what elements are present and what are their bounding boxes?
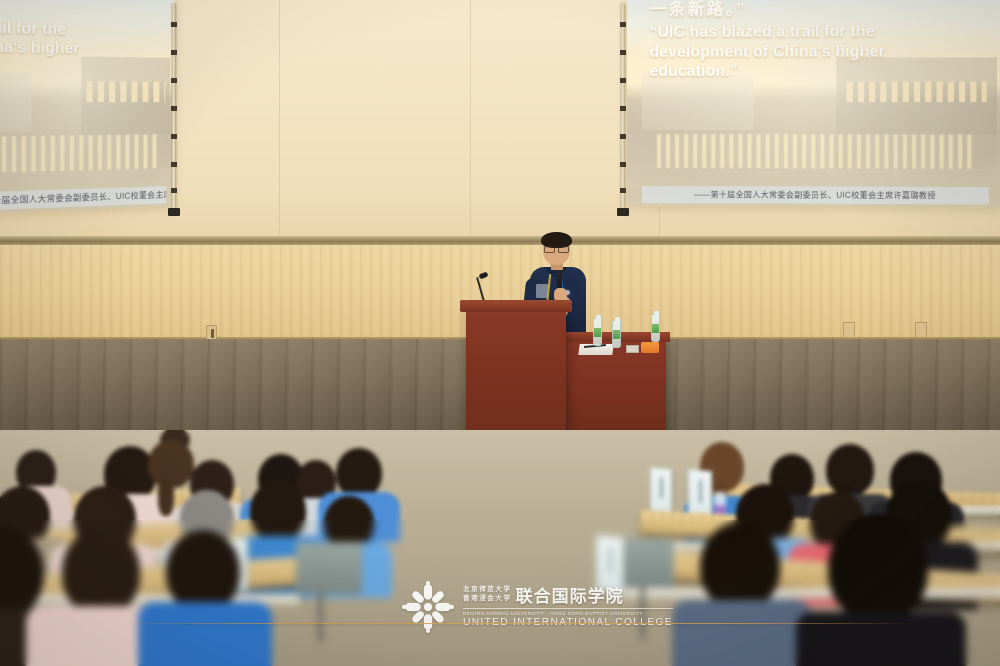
slide-line-en-3: education.” [649,62,981,82]
uic-bnu-cn: 北京师范大学 [463,586,512,595]
water-bottle [612,320,621,348]
slide-text-block-left: a trail for the China's higher [0,18,162,60]
orange-object-on-table [641,342,659,353]
projection-screen-right: 一条新路。” “UIC has blazed a trail for the d… [627,0,1000,208]
lectern-top [460,300,572,312]
uic-hkbu-cn: 香港浸会大学 [463,595,512,604]
wall-outlet-icon [206,325,217,340]
wall-panel-seam [279,0,280,240]
slide-line-cn: 一条新路。” [649,0,981,21]
screen-rail-foot [168,208,180,216]
uic-college-cn: 联合国际学院 [516,588,624,605]
projection-screen-left: a trail for the China's higher ——第十届全国人大… [0,0,174,215]
slide-line-en-2: development of China's higher [649,42,981,62]
uic-parent-universities-en: BEIJING NORMAL UNIVERSITY · HONG KONG BA… [463,611,673,616]
uic-emblem-icon [402,581,454,633]
wall-outlet-icon [915,322,927,338]
watermark-accent-line [116,623,916,624]
uic-chinese-name: 北京师范大学 香港浸会大学 联合国际学院 [463,586,673,606]
screen-track-rail-left [172,4,176,210]
wordmark-divider [463,608,673,609]
small-box-on-table [626,345,639,353]
chair-leg [318,592,323,642]
slide-caption-right: ——第十届全国人大常委会副委员长、UIC校董会主席许嘉璐教授 [642,186,989,204]
audience-chair[interactable] [296,542,362,594]
glasses-icon [544,245,569,250]
lecture-hall-photo: a trail for the China's higher ——第十届全国人大… [0,0,1000,666]
water-bottle [593,318,602,346]
screen-rail-foot [617,208,629,216]
slide-line-en-2: China's higher [0,37,162,60]
water-bottle [651,314,660,342]
wall-outlet-icon [843,322,855,338]
slide-line-en-1: “UIC has blazed a trail for the [649,22,981,43]
wall-panel-seam [470,0,471,240]
uic-parent-universities-cn: 北京师范大学 香港浸会大学 [463,586,512,606]
uic-watermark: 北京师范大学 香港浸会大学 联合国际学院 BEIJING NORMAL UNIV… [402,576,632,638]
slide-text-block-right: 一条新路。” “UIC has blazed a trail for the d… [649,0,981,82]
screen-track-rail-right [621,4,625,210]
uic-wordmark: 北京师范大学 香港浸会大学 联合国际学院 BEIJING NORMAL UNIV… [463,586,673,629]
